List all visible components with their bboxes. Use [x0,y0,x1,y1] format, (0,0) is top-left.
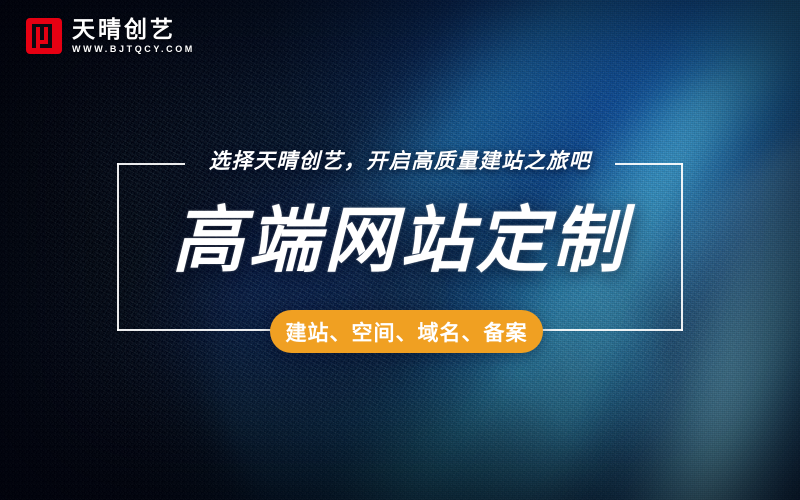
services-cta-label: 建站、空间、域名、备案 [286,317,528,347]
page-title: 高端网站定制 [0,205,800,277]
promo-banner: 天晴创艺 WWW.BJTQCY.COM 选择天晴创艺，开启高质量建站之旅吧 高端… [0,0,800,500]
brand-name: 天晴创艺 [72,17,195,41]
brand-logo-text: 天晴创艺 WWW.BJTQCY.COM [72,17,195,54]
brand-logo[interactable]: 天晴创艺 WWW.BJTQCY.COM [26,17,195,54]
tianqing-square-logo-icon [26,18,62,54]
tagline: 选择天晴创艺，开启高质量建站之旅吧 [0,145,800,175]
brand-website: WWW.BJTQCY.COM [72,44,195,54]
services-cta-button[interactable]: 建站、空间、域名、备案 [270,310,543,353]
